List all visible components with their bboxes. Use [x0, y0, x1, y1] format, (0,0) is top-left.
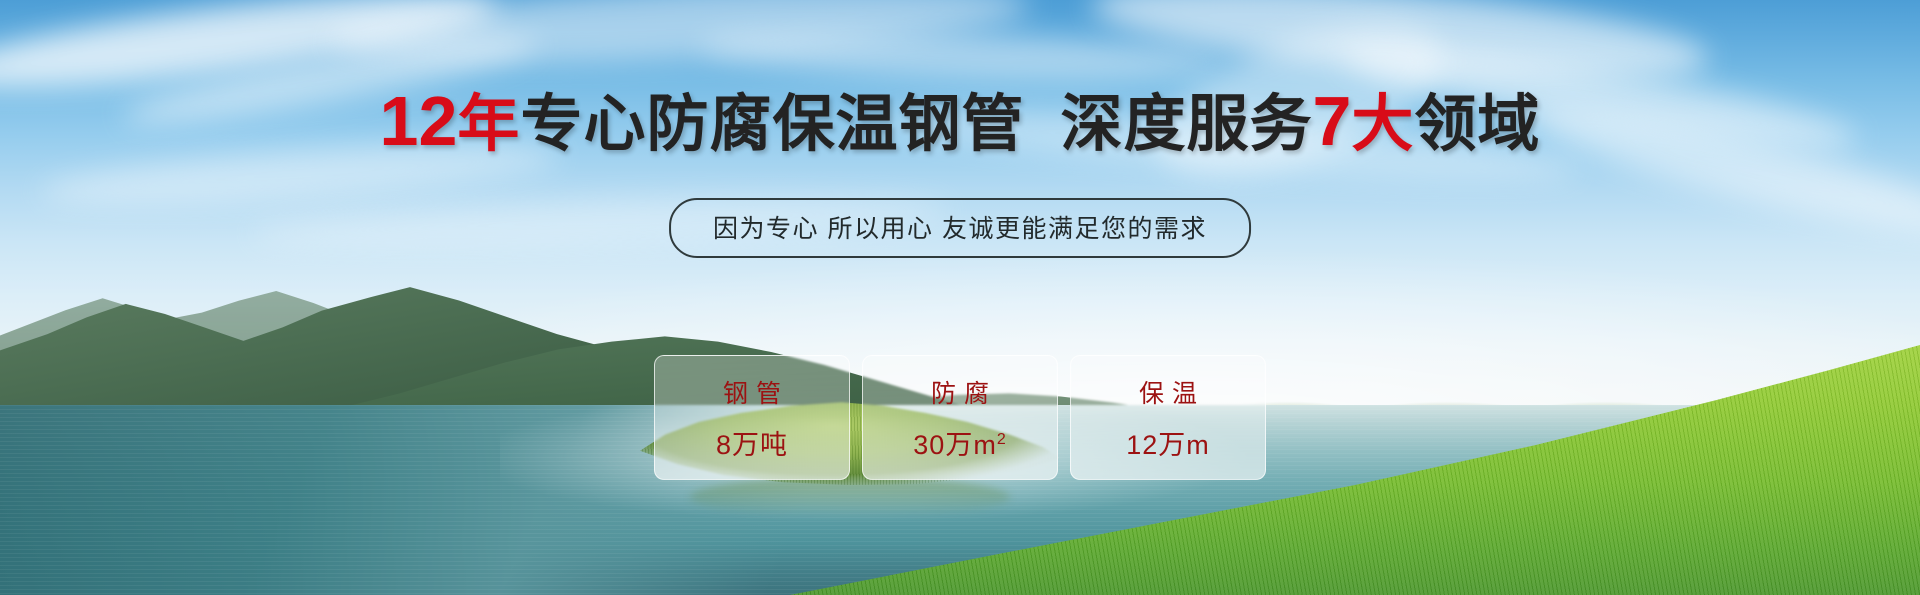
- stat-value-text: 30万m: [913, 430, 997, 460]
- stat-card-steel-pipe[interactable]: 钢管 8万吨: [654, 355, 850, 480]
- headline-fields-suffix: 领域: [1414, 90, 1540, 159]
- stat-label: 防腐: [923, 374, 997, 410]
- stat-card-insulation[interactable]: 保温 12万m: [1070, 355, 1266, 480]
- stat-value-superscript: 2: [997, 431, 1007, 448]
- stat-value: 30万m2: [913, 423, 1006, 462]
- stat-card-anticorrosion[interactable]: 防腐 30万m2: [862, 355, 1058, 480]
- headline-years-number: 12: [380, 82, 458, 160]
- headline-main-phrase: 专心防腐保温钢管: [520, 90, 1024, 159]
- banner-content: 12年专心防腐保温钢管深度服务7大领域 因为专心 所以用心 友诚更能满足您的需求…: [0, 0, 1920, 595]
- stat-label: 保温: [1131, 374, 1205, 410]
- stat-value-text: 12万m: [1126, 430, 1210, 460]
- headline-fields-unit: 大: [1351, 90, 1414, 159]
- headline: 12年专心防腐保温钢管深度服务7大领域: [0, 86, 1920, 156]
- stats-row: 钢管 8万吨 防腐 30万m2 保温 12万m: [654, 355, 1266, 480]
- stat-value: 8万吨: [716, 423, 788, 462]
- hero-banner: 12年专心防腐保温钢管深度服务7大领域 因为专心 所以用心 友诚更能满足您的需求…: [0, 0, 1920, 595]
- headline-service-phrase: 深度服务: [1060, 90, 1312, 159]
- headline-years-unit: 年: [457, 90, 520, 159]
- stat-label: 钢管: [715, 374, 789, 410]
- stat-value: 12万m: [1126, 423, 1210, 462]
- headline-fields-number: 7: [1312, 82, 1351, 160]
- subtitle-pill: 因为专心 所以用心 友诚更能满足您的需求: [669, 198, 1251, 258]
- stat-value-text: 8万吨: [716, 430, 788, 460]
